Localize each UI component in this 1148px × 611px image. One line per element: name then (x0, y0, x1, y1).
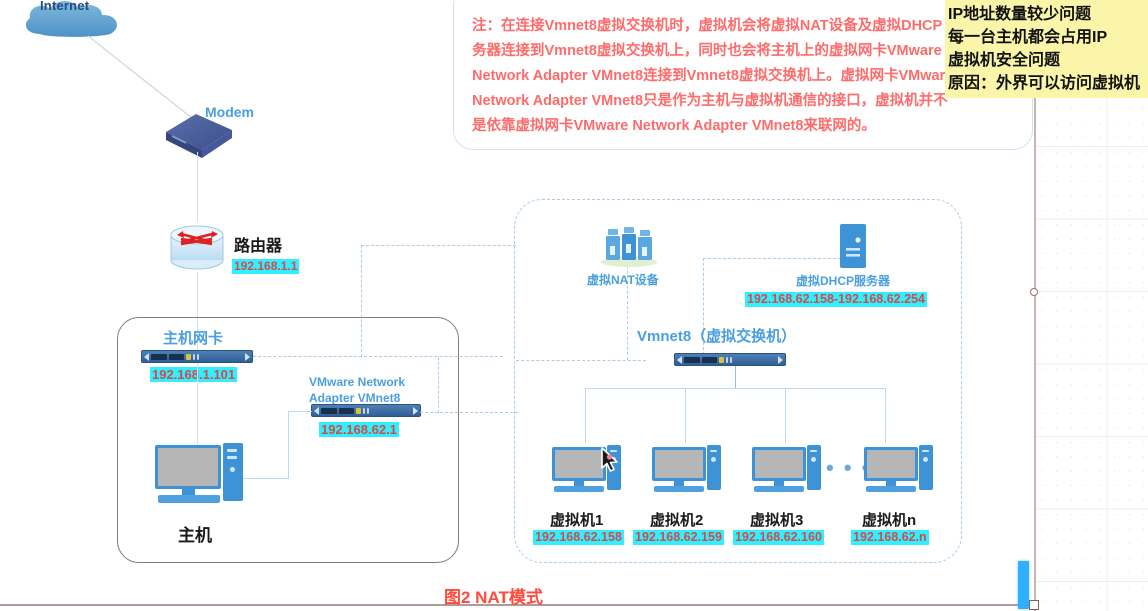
yellow-sticky-note[interactable]: 缺陷 IP地址数量较少问题 每一台主机都会占用IP 虚拟机安全问题 原因：外界可… (945, 0, 1148, 98)
host-nic-icon (141, 350, 253, 363)
vm-bus-line (585, 388, 885, 389)
yellow-note-line-2: IP地址数量较少问题 (945, 3, 1148, 26)
vmware-adapter-icon (311, 404, 421, 417)
dash-adapter-right (420, 412, 518, 413)
selection-resize-handle[interactable] (1029, 600, 1039, 610)
vm2-computer-icon[interactable] (652, 443, 722, 493)
router-icon (168, 222, 228, 274)
vmware-adapter-label: VMware Network Adapter VMnet8 (309, 374, 431, 406)
router-ip: 192.168.1.1 (232, 259, 299, 274)
link-switch-bus-v (735, 366, 736, 388)
link-host-adapter-h2 (288, 411, 312, 412)
host-nic-label: 主机网卡 (163, 327, 223, 348)
link-host-adapter-h1 (243, 478, 289, 479)
link-modem-router (197, 152, 198, 222)
vmn-ip: 192.168.62.n (851, 530, 929, 545)
dash-to-region-top (361, 245, 516, 246)
blue-marker-bar (1018, 561, 1029, 609)
vmn-name: 虚拟机n (862, 509, 916, 530)
link-bus-vm2 (685, 388, 686, 443)
vm3-computer-icon[interactable] (752, 443, 822, 493)
vmware-adapter-ip: 192.168.62.1 (319, 422, 399, 437)
vm1-name: 虚拟机1 (550, 509, 603, 530)
mouse-cursor (600, 447, 622, 473)
yellow-note-line-4: 虚拟机安全问题 (945, 49, 1148, 72)
vm2-name: 虚拟机2 (650, 509, 703, 530)
virtual-dhcp-label: 虚拟DHCP服务器 (796, 272, 890, 289)
vm2-ip: 192.168.62.159 (633, 530, 724, 545)
vm1-ip: 192.168.62.158 (533, 530, 624, 545)
link-host-adapter-v (288, 411, 289, 479)
vmnet8-switch-label: Vmnet8（虚拟交换机） (637, 325, 796, 346)
diagram-canvas[interactable]: Internet Modem (0, 0, 1148, 611)
virtual-nat-device-icon (598, 224, 660, 268)
vmnet8-switch-icon (674, 353, 786, 366)
link-bus-vmn (885, 388, 886, 443)
vmn-computer-icon[interactable] (864, 443, 934, 493)
yellow-note-line-5: 原因：外界可以访问虚拟机 (945, 72, 1148, 95)
vm3-ip: 192.168.62.160 (733, 530, 824, 545)
link-bus-vm1 (585, 388, 586, 443)
host-computer-icon (155, 443, 245, 505)
yellow-note-line-3: 每一台主机都会占用IP (945, 26, 1148, 49)
selection-rotate-handle[interactable] (1030, 288, 1038, 296)
vm3-name: 虚拟机3 (750, 509, 803, 530)
figure-caption: 图2 NAT模式 (444, 583, 543, 608)
virtual-nat-label: 虚拟NAT设备 (587, 271, 659, 288)
virtual-dhcp-server-icon (838, 222, 868, 270)
dash-hostnic-right (253, 356, 503, 357)
dash-up-1 (361, 245, 362, 357)
host-label: 主机 (178, 521, 212, 546)
dash-down-1 (438, 357, 439, 413)
router-label: 路由器 (234, 232, 282, 256)
link-bus-vm3 (785, 388, 786, 443)
internet-label: Internet (40, 0, 89, 13)
link-hostnic-host (197, 363, 198, 445)
host-nic-ip: 192.168.1.101 (150, 367, 237, 382)
virtual-dhcp-ip: 192.168.62.158-192.168.62.254 (745, 292, 927, 307)
